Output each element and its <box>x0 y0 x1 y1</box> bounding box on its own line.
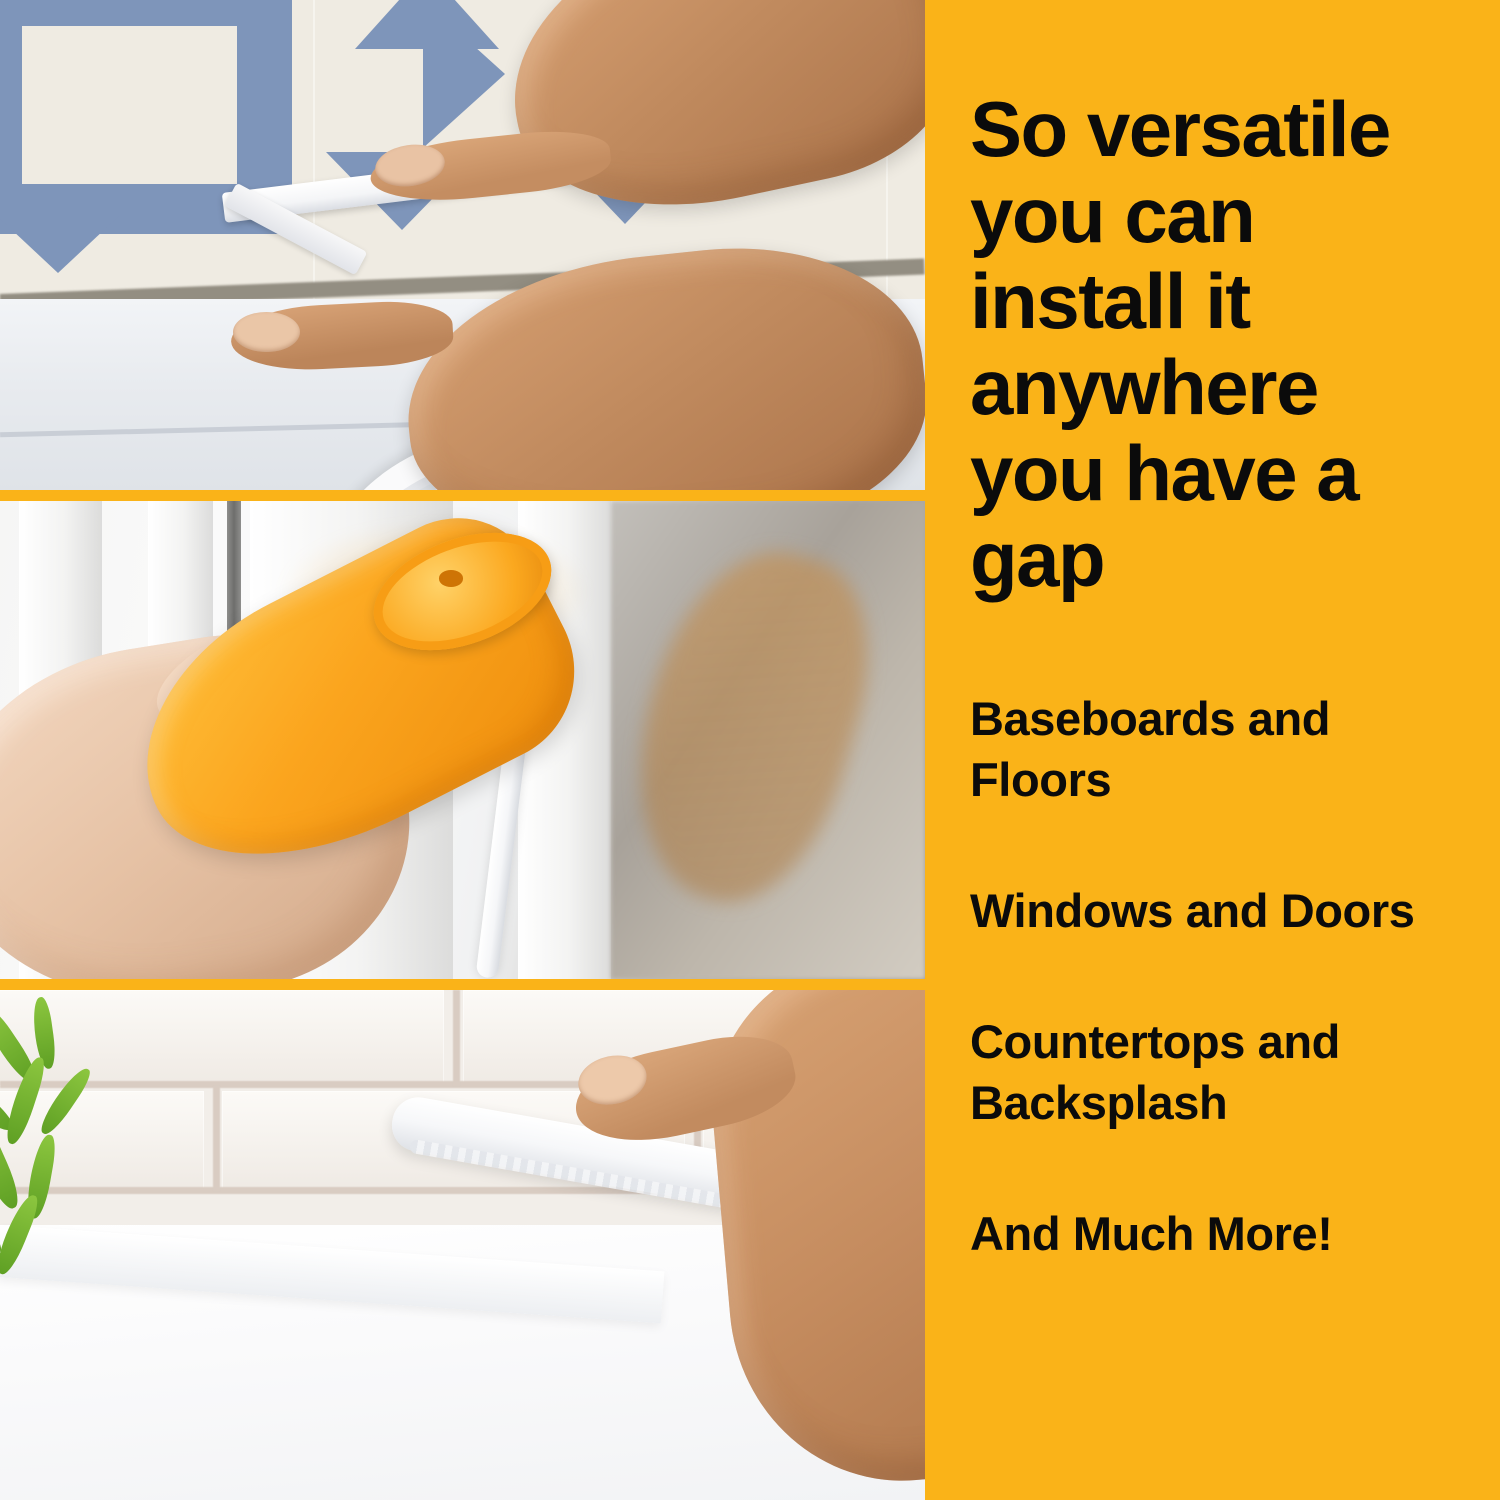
photo-tile-backsplash <box>0 0 925 490</box>
photo-window-frame <box>0 501 925 979</box>
photo-divider <box>0 979 925 990</box>
headline: So versatile you can install it anywhere… <box>970 86 1400 602</box>
photo-countertop-brick <box>0 990 925 1500</box>
benefit-item-windows: Windows and Doors <box>970 880 1420 941</box>
benefit-item-more: And Much More! <box>970 1203 1420 1264</box>
patterned-tile <box>0 0 315 304</box>
benefit-item-countertops: Countertops and Backsplash <box>970 1011 1420 1133</box>
text-panel: So versatile you can install it anywhere… <box>925 0 1500 1500</box>
plant <box>0 990 157 1316</box>
benefit-item-baseboards: Baseboards and Floors <box>970 688 1420 810</box>
product-feature-poster: So versatile you can install it anywhere… <box>0 0 1500 1500</box>
benefit-list: Baseboards and Floors Windows and Doors … <box>970 688 1466 1264</box>
photo-column <box>0 0 925 1500</box>
fingernail <box>233 312 300 352</box>
tool-vent-hole <box>439 570 463 586</box>
photo-divider <box>0 490 925 501</box>
